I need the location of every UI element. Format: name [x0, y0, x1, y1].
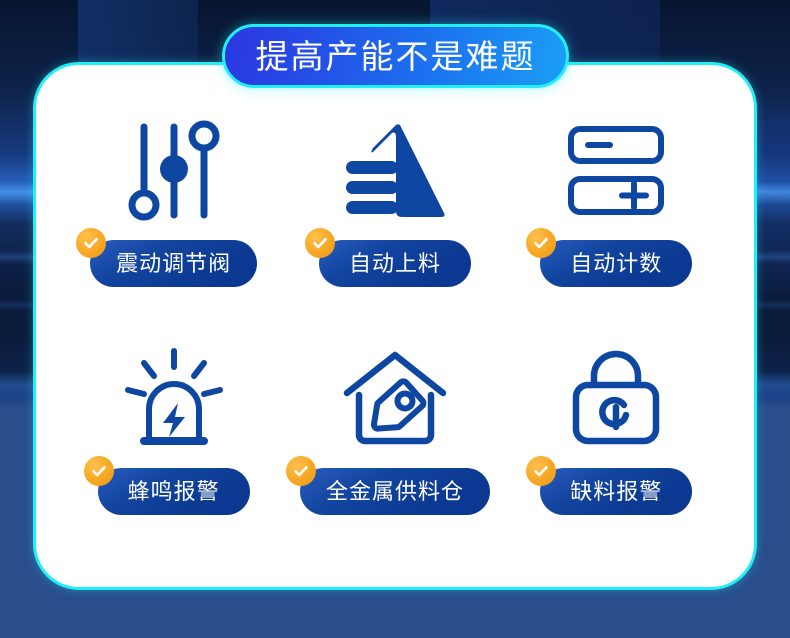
- check-icon: [305, 228, 335, 258]
- feature-badge-5[interactable]: 全金属供料仓: [300, 468, 490, 515]
- feature-label: 蜂鸣报警: [128, 481, 220, 503]
- feature-item-4: 蜂鸣报警: [63, 336, 284, 564]
- feature-label: 全金属供料仓: [326, 481, 464, 503]
- feature-label: 震动调节阀: [116, 253, 231, 275]
- check-icon: [84, 456, 114, 486]
- feature-badge-3[interactable]: 自动计数: [540, 240, 692, 287]
- badge-pill[interactable]: 蜂鸣报警: [98, 468, 250, 515]
- feature-badge-6[interactable]: 缺料报警: [540, 468, 692, 515]
- badge-pill[interactable]: 全金属供料仓: [300, 468, 490, 515]
- title-banner: 提高产能不是难题: [222, 24, 569, 88]
- warehouse-tag-icon: [343, 336, 447, 462]
- feature-item-2: 自动上料: [284, 108, 505, 336]
- feature-label: 自动上料: [349, 253, 441, 275]
- sliders-icon: [126, 108, 222, 234]
- feature-item-6: 缺料报警: [506, 336, 727, 564]
- feature-label: 缺料报警: [570, 481, 662, 503]
- auto-feed-icon: [340, 108, 450, 234]
- feature-badge-1[interactable]: 震动调节阀: [90, 240, 257, 287]
- check-icon: [286, 456, 316, 486]
- page-title: 提高产能不是难题: [256, 40, 536, 73]
- counter-icon: [566, 108, 666, 234]
- badge-pill[interactable]: 震动调节阀: [90, 240, 257, 287]
- siren-alarm-icon: [122, 336, 226, 462]
- feature-item-3: 自动计数: [506, 108, 727, 336]
- feature-grid: 震动调节阀 自动上料: [33, 62, 757, 590]
- feature-badge-4[interactable]: 蜂鸣报警: [98, 468, 250, 515]
- feature-item-5: 全金属供料仓: [284, 336, 505, 564]
- badge-pill[interactable]: 自动计数: [540, 240, 692, 287]
- feature-label: 自动计数: [570, 253, 662, 275]
- check-icon: [76, 228, 106, 258]
- feature-badge-2[interactable]: 自动上料: [319, 240, 471, 287]
- lock-refresh-icon: [568, 336, 664, 462]
- feature-item-1: 震动调节阀: [63, 108, 284, 336]
- badge-pill[interactable]: 缺料报警: [540, 468, 692, 515]
- badge-pill[interactable]: 自动上料: [319, 240, 471, 287]
